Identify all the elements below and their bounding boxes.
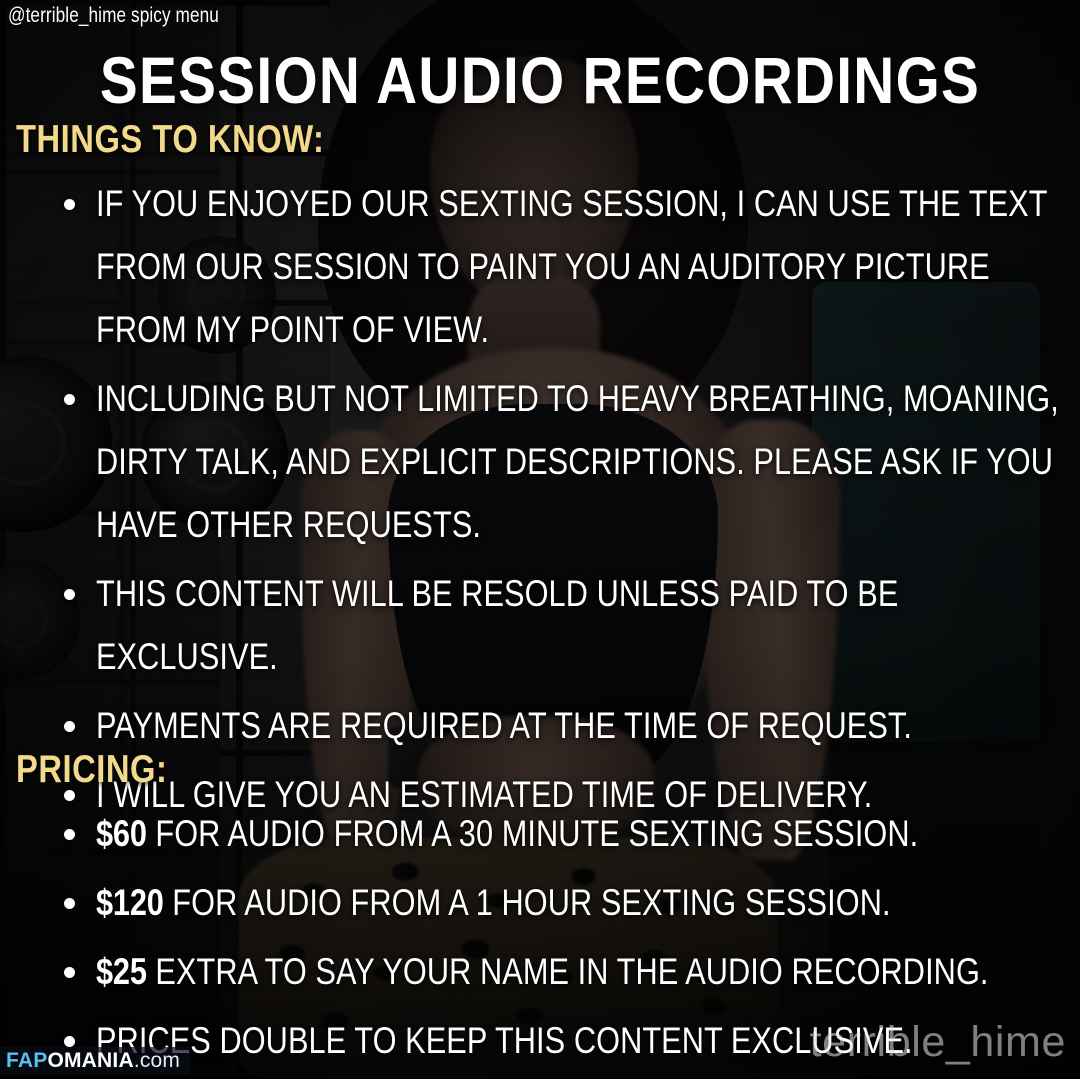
list-item-text: $60 FOR AUDIO FROM A 30 MINUTE SEXTING S…	[96, 802, 1066, 865]
price-description: FOR AUDIO FROM A 30 MINUTE SEXTING SESSI…	[147, 813, 919, 854]
list-item-text: $25 EXTRA TO SAY YOUR NAME IN THE AUDIO …	[96, 940, 1066, 1003]
price-amount: $120	[96, 882, 164, 923]
price-description: EXTRA TO SAY YOUR NAME IN THE AUDIO RECO…	[147, 951, 989, 992]
list-item: INCLUDING BUT NOT LIMITED TO HEAVY BREAT…	[56, 367, 1066, 556]
list-item: $60 FOR AUDIO FROM A 30 MINUTE SEXTING S…	[56, 802, 1066, 865]
list-item: IF YOU ENJOYED OUR SEXTING SESSION, I CA…	[56, 172, 1066, 361]
watermark-omania: OMANIA	[47, 1049, 133, 1072]
list-item-text: $120 FOR AUDIO FROM A 1 HOUR SEXTING SES…	[96, 871, 1066, 934]
account-handle: @terrible_hime spicy menu	[8, 4, 219, 28]
page-title: SESSION AUDIO RECORDINGS	[76, 42, 1005, 118]
price-description: PRICES DOUBLE TO KEEP THIS CONTENT EXCLU…	[96, 1020, 913, 1061]
watermark-fap: FAP	[6, 1049, 47, 1072]
list-item-text: IF YOU ENJOYED OUR SEXTING SESSION, I CA…	[96, 172, 1066, 361]
list-item: $120 FOR AUDIO FROM A 1 HOUR SEXTING SES…	[56, 871, 1066, 934]
list-item-text: INCLUDING BUT NOT LIMITED TO HEAVY BREAT…	[96, 367, 1066, 556]
price-amount: $25	[96, 951, 147, 992]
list-item: THIS CONTENT WILL BE RESOLD UNLESS PAID …	[56, 562, 1066, 688]
price-amount: $60	[96, 813, 147, 854]
list-item-text: THIS CONTENT WILL BE RESOLD UNLESS PAID …	[96, 562, 1066, 688]
watermark-com: .com	[134, 1049, 180, 1072]
list-item-text: PAYMENTS ARE REQUIRED AT THE TIME OF REQ…	[96, 694, 1066, 757]
site-watermark: FAPOMANIA.com	[0, 1047, 190, 1075]
list-item: PAYMENTS ARE REQUIRED AT THE TIME OF REQ…	[56, 694, 1066, 757]
poster-content: @terrible_hime spicy menu SESSION AUDIO …	[0, 0, 1080, 1079]
user-watermark: terrible_hime	[810, 1018, 1066, 1067]
section-heading-things-to-know: THINGS TO KNOW:	[16, 118, 324, 162]
spicy-menu-poster: @terrible_hime spicy menu SESSION AUDIO …	[0, 0, 1080, 1079]
list-item: $25 EXTRA TO SAY YOUR NAME IN THE AUDIO …	[56, 940, 1066, 1003]
things-to-know-list: IF YOU ENJOYED OUR SEXTING SESSION, I CA…	[56, 172, 1066, 832]
price-description: FOR AUDIO FROM A 1 HOUR SEXTING SESSION.	[164, 882, 891, 923]
section-heading-pricing: PRICING:	[16, 748, 167, 792]
